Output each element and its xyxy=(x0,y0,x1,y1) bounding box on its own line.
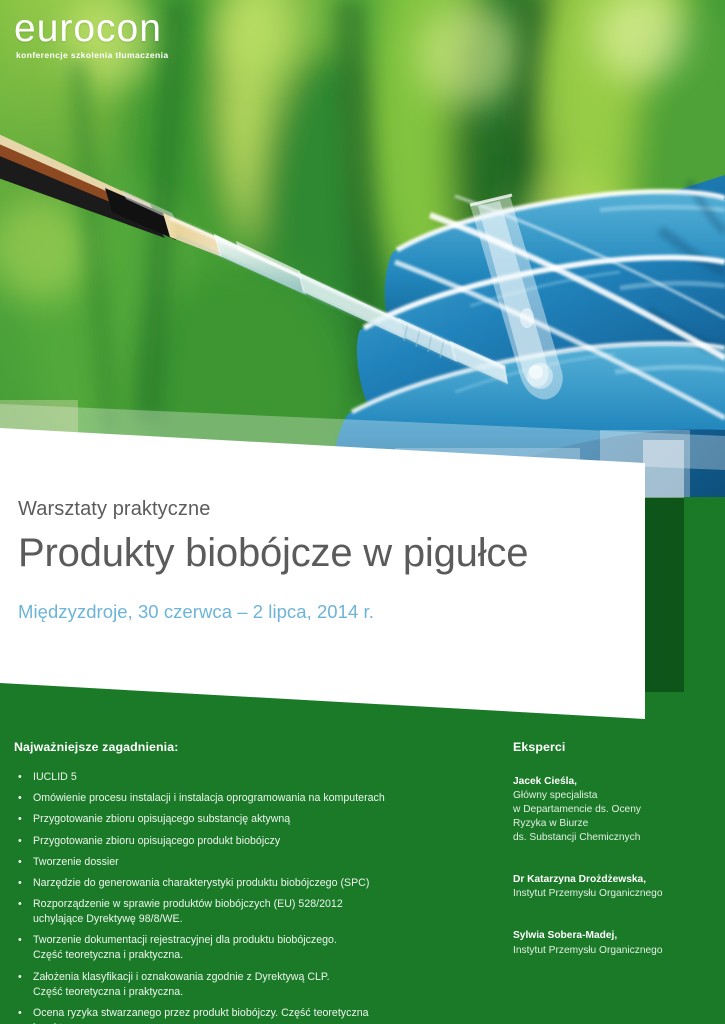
expert-entry: Dr Katarzyna Drożdżewska,Instytut Przemy… xyxy=(513,873,718,901)
topic-item: •Przygotowanie zbioru opisującego produk… xyxy=(14,834,484,849)
photo-overlay-rectangle xyxy=(643,440,684,498)
topic-text-line1: Tworzenie dokumentacji rejestracyjnej dl… xyxy=(33,934,337,946)
topic-text-line1: Rozporządzenie w sprawie produktów biobó… xyxy=(33,898,343,910)
topics-column: Najważniejsze zagadnienia: •IUCLID 5•Omó… xyxy=(14,740,484,1024)
experts-column: Eksperci Jacek Cieśla,Główny specjalista… xyxy=(513,740,718,958)
expert-entry: Sylwia Sobera-Madej,Instytut Przemysłu O… xyxy=(513,929,718,957)
topic-item: •IUCLID 5 xyxy=(14,770,484,785)
bullet-icon: • xyxy=(18,876,22,891)
bullet-icon: • xyxy=(18,970,22,985)
event-date: Międzyzdroje, 30 czerwca – 2 lipca, 2014… xyxy=(18,601,618,623)
experts-list: Jacek Cieśla,Główny specjalistaw Departa… xyxy=(513,775,718,958)
title-panel: Warsztaty praktyczne Produkty biobójcze … xyxy=(0,425,645,725)
brand-name: eurocon xyxy=(14,9,168,49)
bullet-icon: • xyxy=(18,855,22,870)
right-dark-green-band xyxy=(643,497,684,692)
hero-photo-illustration xyxy=(0,0,725,500)
topic-item: •Tworzenie dokumentacji rejestracyjnej d… xyxy=(14,933,484,963)
topic-item: •Narzędzie do generowania charakterystyk… xyxy=(14,876,484,891)
brand-logo[interactable]: eurocon konferencje szkolenia tłumaczeni… xyxy=(14,9,168,59)
topic-item: •Ocena ryzyka stwarzanego przez produkt … xyxy=(14,1006,484,1024)
bullet-icon: • xyxy=(18,791,22,806)
page-title: Produkty biobójcze w pigułce xyxy=(18,530,618,576)
bullet-icon: • xyxy=(18,770,22,785)
bullet-icon: • xyxy=(18,812,22,827)
expert-entry: Jacek Cieśla,Główny specjalistaw Departa… xyxy=(513,775,718,845)
right-green-band xyxy=(684,497,725,727)
expert-name: Jacek Cieśla, xyxy=(513,775,718,789)
topics-heading: Najważniejsze zagadnienia: xyxy=(14,740,484,755)
topic-item: •Rozporządzenie w sprawie produktów biob… xyxy=(14,897,484,927)
event-kicker: Warsztaty praktyczne xyxy=(18,497,618,521)
bullet-icon: • xyxy=(18,834,22,849)
expert-affiliation-line: Główny specjalista xyxy=(513,789,718,803)
topic-text-line2: uchylające Dyrektywę 98/8/WE. xyxy=(33,912,484,927)
topic-text-line1: IUCLID 5 xyxy=(33,771,77,783)
bullet-icon: • xyxy=(18,897,22,912)
experts-heading: Eksperci xyxy=(513,740,718,755)
expert-name: Dr Katarzyna Drożdżewska, xyxy=(513,873,718,887)
poster-page: eurocon konferencje szkolenia tłumaczeni… xyxy=(0,0,725,1024)
expert-affiliation-line: Instytut Przemysłu Organicznego xyxy=(513,944,718,958)
expert-name: Sylwia Sobera-Madej, xyxy=(513,929,718,943)
topic-text-line1: Założenia klasyfikacji i oznakowania zgo… xyxy=(33,971,330,983)
expert-affiliation-line: w Departamencie ds. Oceny xyxy=(513,803,718,817)
content-area: Najważniejsze zagadnienia: •IUCLID 5•Omó… xyxy=(0,740,725,1024)
topics-list: •IUCLID 5•Omówienie procesu instalacji i… xyxy=(14,770,484,1024)
expert-affiliation-line: Ryzyka w Biurze xyxy=(513,817,718,831)
expert-affiliation-line: ds. Substancji Chemicznych xyxy=(513,831,718,845)
topic-text-line1: Ocena ryzyka stwarzanego przez produkt b… xyxy=(33,1007,369,1019)
bullet-icon: • xyxy=(18,933,22,948)
brand-tagline: konferencje szkolenia tłumaczenia xyxy=(16,51,168,60)
topic-text-line2: Część teoretyczna i praktyczna. xyxy=(33,985,484,1000)
topic-item: •Przygotowanie zbioru opisującego substa… xyxy=(14,812,484,827)
bullet-icon: • xyxy=(18,1006,22,1021)
topic-text-line1: Narzędzie do generowania charakterystyki… xyxy=(33,877,369,889)
hero-photo xyxy=(0,0,725,500)
topic-text-line2: Część teoretyczna i praktyczna. xyxy=(33,948,484,963)
topic-text-line1: Przygotowanie zbioru opisującego substan… xyxy=(33,813,290,825)
topic-item: •Tworzenie dossier xyxy=(14,855,484,870)
topic-item: •Omówienie procesu instalacji i instalac… xyxy=(14,791,484,806)
topic-text-line1: Omówienie procesu instalacji i instalacj… xyxy=(33,792,385,804)
topic-item: •Założenia klasyfikacji i oznakowania zg… xyxy=(14,970,484,1000)
topic-text-line1: Tworzenie dossier xyxy=(33,856,119,868)
topic-text-line1: Przygotowanie zbioru opisującego produkt… xyxy=(33,835,280,847)
title-panel-content: Warsztaty praktyczne Produkty biobójcze … xyxy=(18,497,618,624)
expert-affiliation-line: Instytut Przemysłu Organicznego xyxy=(513,887,718,901)
